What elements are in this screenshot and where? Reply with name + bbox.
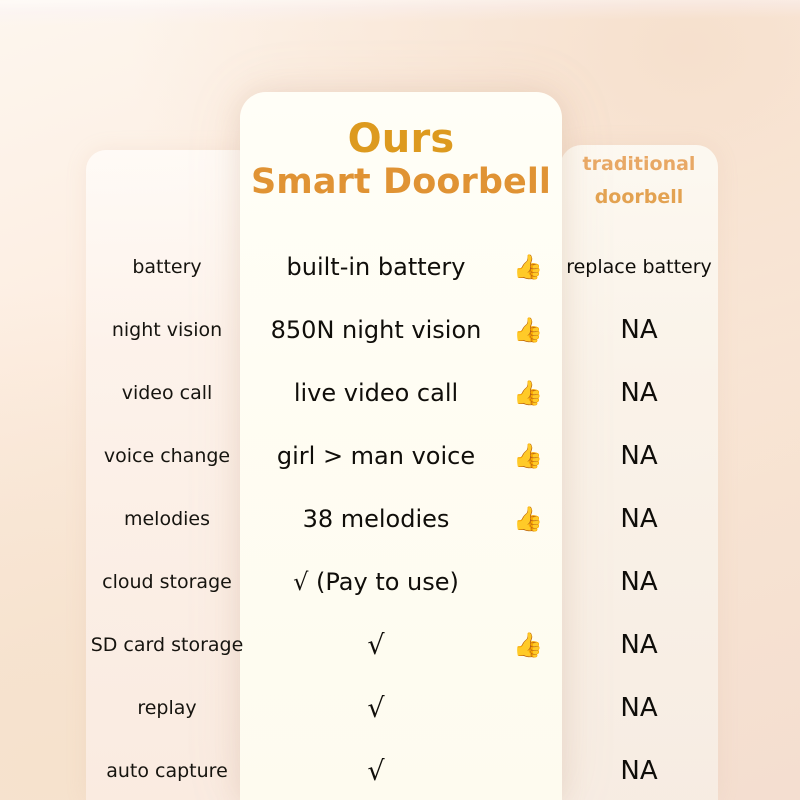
traditional-value: NA bbox=[560, 677, 718, 740]
traditional-value: NA bbox=[560, 488, 718, 551]
feature-label: melodies bbox=[78, 488, 256, 551]
ours-value: √ bbox=[250, 614, 502, 677]
table-row: replay√👍NA bbox=[0, 677, 800, 740]
table-row: batterybuilt-in battery👍replace battery bbox=[0, 236, 800, 299]
feature-label: video call bbox=[78, 362, 256, 425]
traditional-value: NA bbox=[560, 740, 718, 800]
traditional-value: replace battery bbox=[560, 236, 718, 299]
thumbs-up-icon: 👍 bbox=[508, 362, 548, 425]
traditional-value: NA bbox=[560, 551, 718, 614]
comparison-table: batterybuilt-in battery👍replace batteryn… bbox=[0, 236, 800, 800]
table-row: night vision850N night vision👍NA bbox=[0, 299, 800, 362]
thumbs-up-icon: 👍 bbox=[508, 614, 548, 677]
thumbs-up-icon: 👍 bbox=[508, 299, 548, 362]
ours-title: Ours bbox=[240, 118, 562, 160]
product-title: Smart Doorbell bbox=[240, 164, 562, 201]
traditional-title-line2: doorbell bbox=[560, 188, 718, 207]
feature-label: battery bbox=[78, 236, 256, 299]
table-row: SD card storage√👍NA bbox=[0, 614, 800, 677]
ours-value: 850N night vision bbox=[250, 299, 502, 362]
thumbs-up-icon: 👍 bbox=[508, 425, 548, 488]
table-row: voice changegirl > man voice👍NA bbox=[0, 425, 800, 488]
ours-value: live video call bbox=[250, 362, 502, 425]
thumbs-up-icon: 👍 bbox=[508, 236, 548, 299]
comparison-infographic: Ours Smart Doorbell traditional doorbell… bbox=[0, 0, 800, 800]
table-row: auto capture√👍NA bbox=[0, 740, 800, 800]
ours-value: built-in battery bbox=[250, 236, 502, 299]
ours-value: 38 melodies bbox=[250, 488, 502, 551]
traditional-value: NA bbox=[560, 614, 718, 677]
ours-value: √ (Pay to use) bbox=[250, 551, 502, 614]
table-row: cloud storage√ (Pay to use)👍NA bbox=[0, 551, 800, 614]
ours-value: girl > man voice bbox=[250, 425, 502, 488]
feature-label: voice change bbox=[78, 425, 256, 488]
traditional-value: NA bbox=[560, 362, 718, 425]
feature-label: replay bbox=[78, 677, 256, 740]
feature-label: cloud storage bbox=[78, 551, 256, 614]
feature-label: SD card storage bbox=[78, 614, 256, 677]
traditional-card-header: traditional doorbell bbox=[560, 155, 718, 207]
traditional-value: NA bbox=[560, 425, 718, 488]
table-row: melodies38 melodies👍NA bbox=[0, 488, 800, 551]
ours-value: √ bbox=[250, 677, 502, 740]
table-row: video calllive video call👍NA bbox=[0, 362, 800, 425]
traditional-title-line1: traditional bbox=[560, 155, 718, 174]
ours-card-header: Ours Smart Doorbell bbox=[240, 118, 562, 201]
traditional-value: NA bbox=[560, 299, 718, 362]
feature-label: auto capture bbox=[78, 740, 256, 800]
ours-value: √ bbox=[250, 740, 502, 800]
thumbs-up-icon: 👍 bbox=[508, 488, 548, 551]
feature-label: night vision bbox=[78, 299, 256, 362]
